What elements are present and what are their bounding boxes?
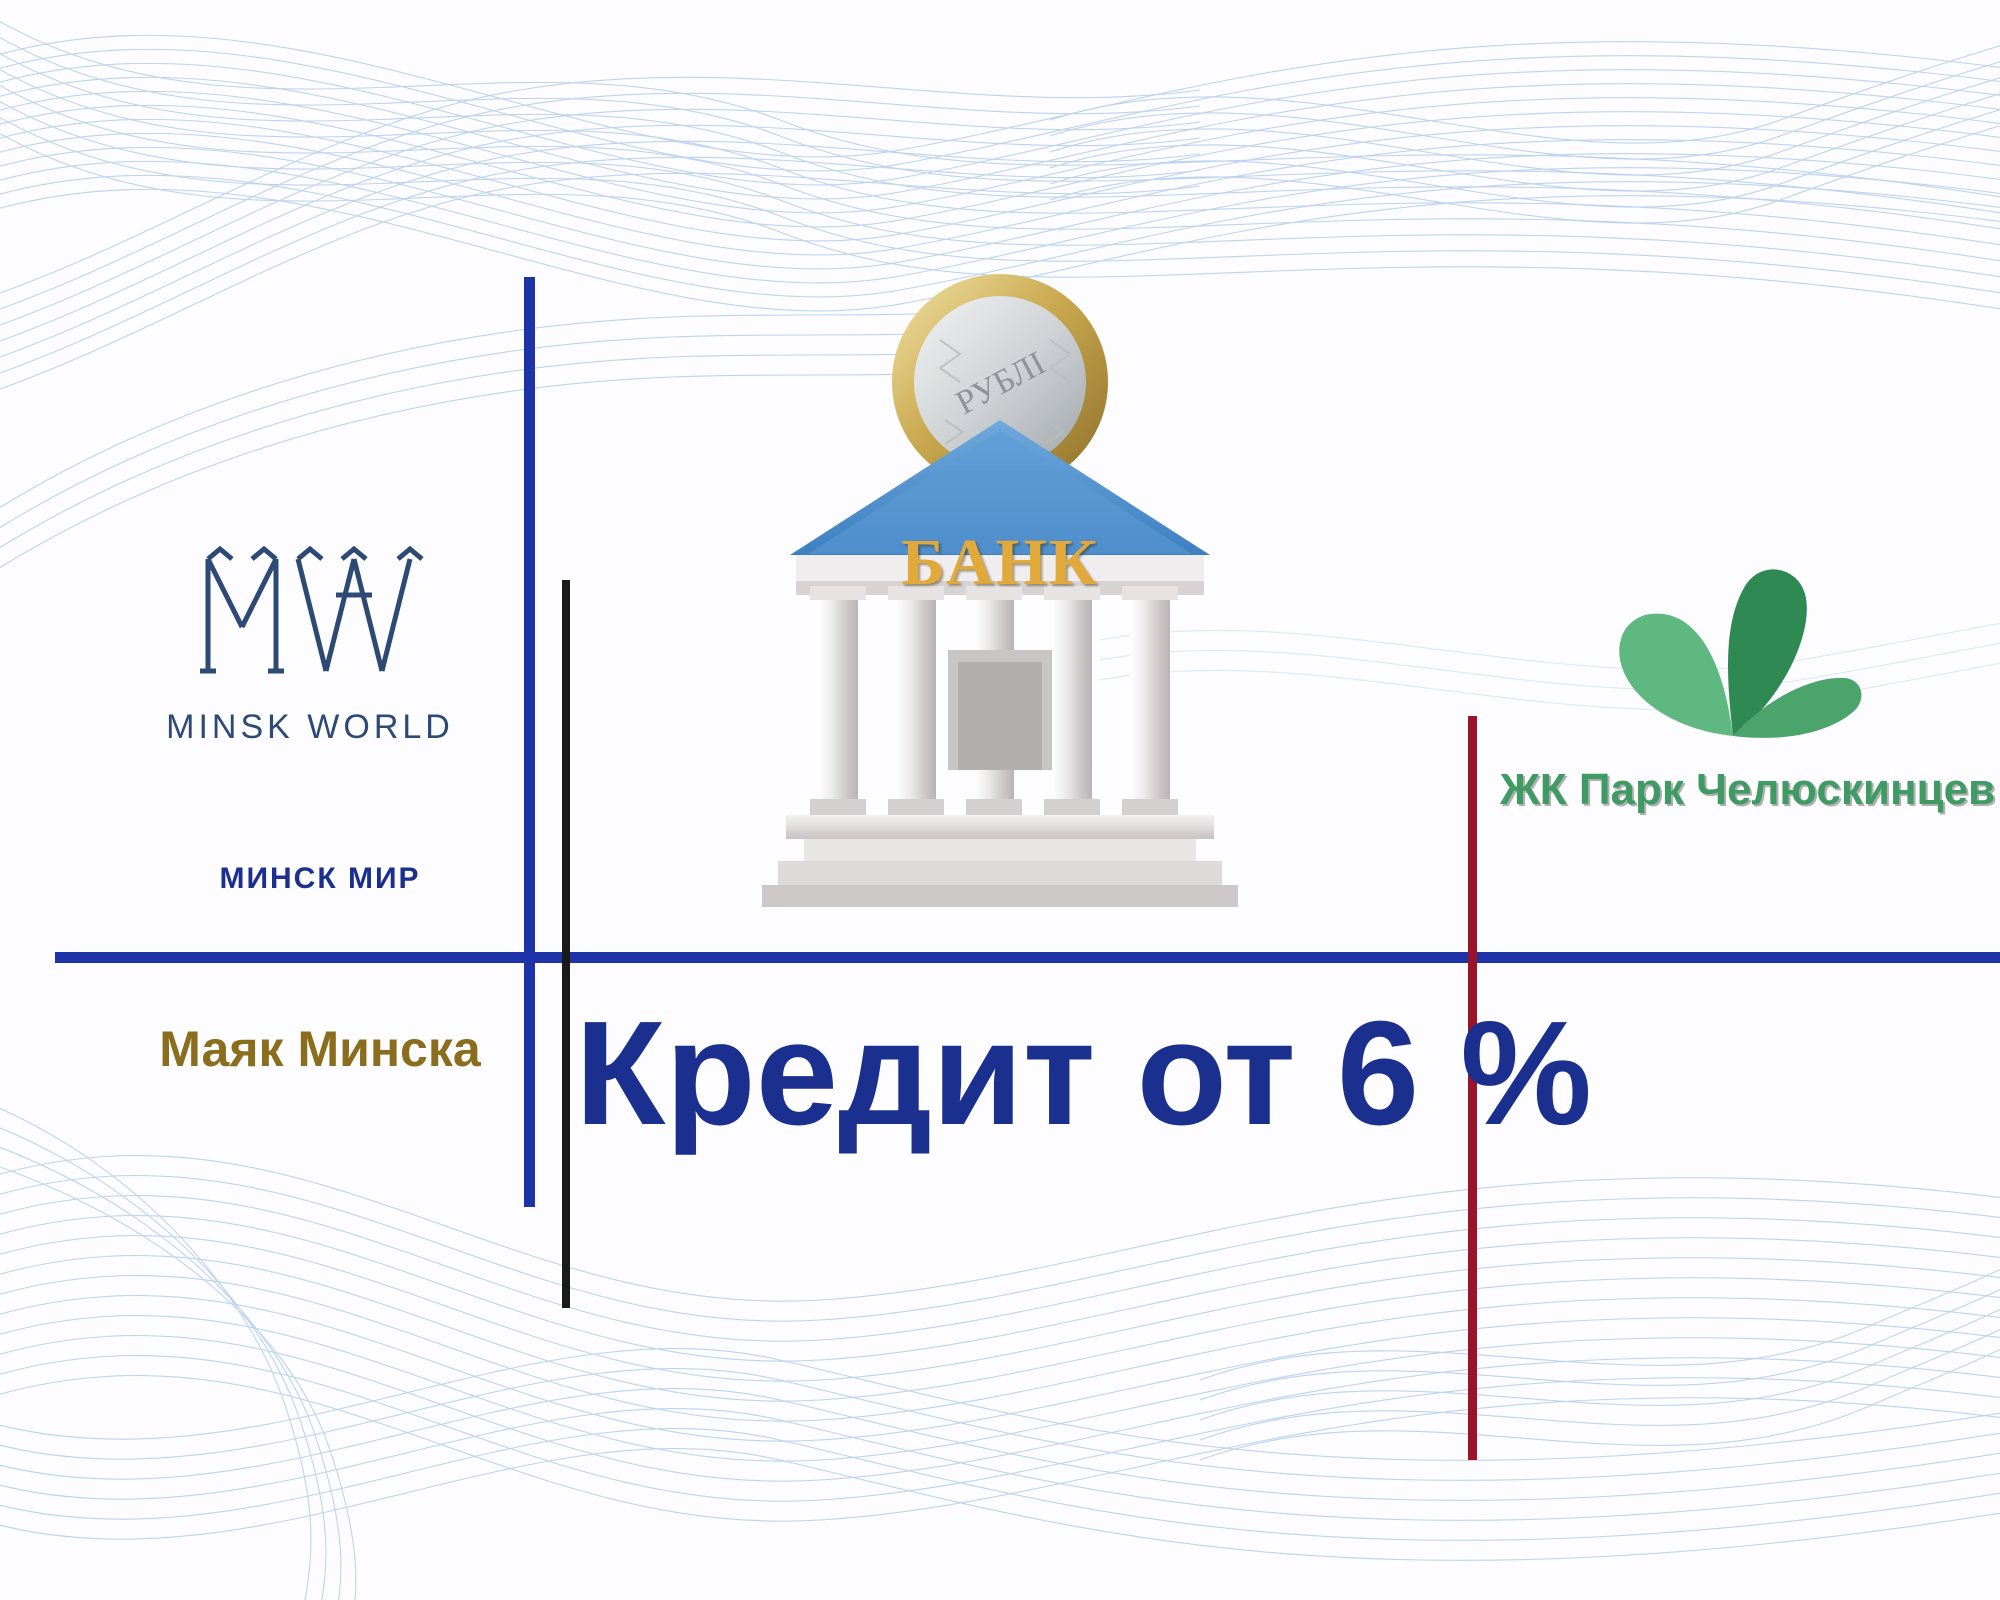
mw-monogram-icon — [150, 535, 470, 695]
minsk-world-caption: МИНСК МИР — [150, 862, 490, 896]
vertical-divider-blue — [524, 277, 535, 1207]
page-title: Кредит от 6 % — [575, 1000, 1475, 1148]
leaf-icon — [1605, 560, 1865, 760]
vertical-divider-black — [562, 580, 570, 1308]
poster-canvas: MINSK WORLD МИНСК МИР Маяк Минска ЖК Пар… — [0, 0, 2000, 1600]
bank-sign-text: БАНК — [700, 525, 1300, 601]
minsk-world-logo-name: MINSK WORLD — [150, 708, 470, 747]
park-chelyuskintsev-caption: ЖК Парк Челюскинцев — [1500, 765, 1970, 815]
minsk-world-logo-block: MINSK WORLD — [150, 535, 470, 747]
park-chelyuskintsev-logo-block: ЖК Парк Челюскинцев — [1500, 560, 1970, 815]
mayak-minska-caption: Маяк Минска — [140, 1020, 500, 1078]
horizontal-divider — [55, 952, 2000, 963]
